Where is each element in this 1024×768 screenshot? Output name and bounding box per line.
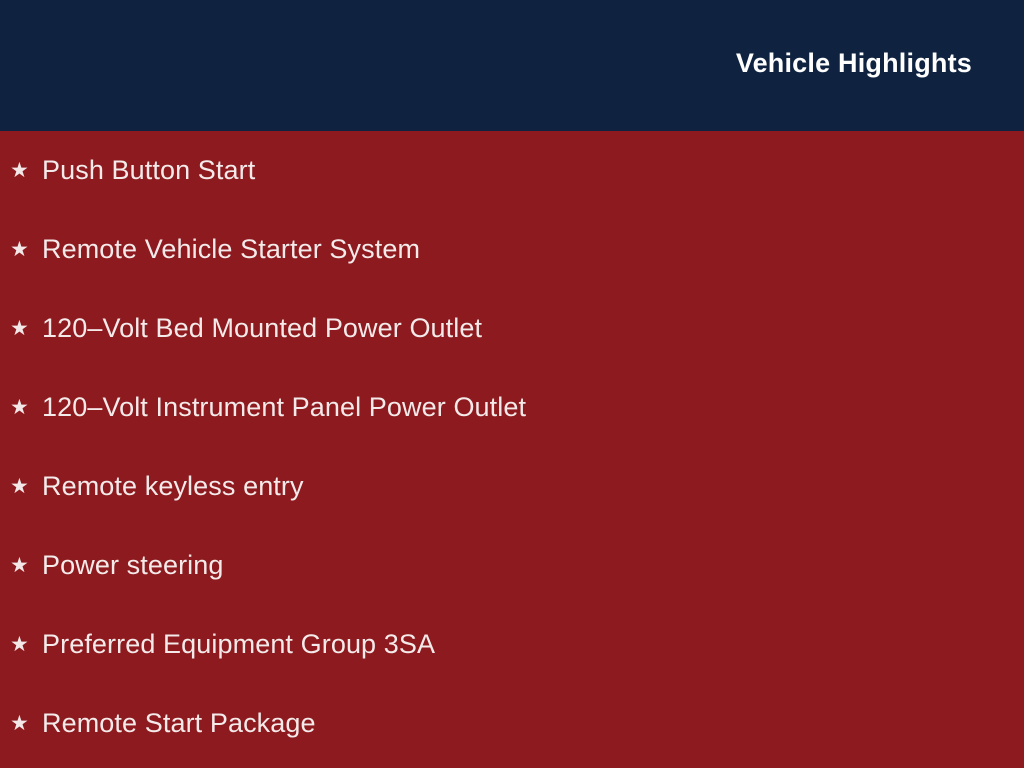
feature-label: Power steering xyxy=(42,548,224,582)
feature-label: 120–Volt Bed Mounted Power Outlet xyxy=(42,311,482,345)
list-item: ★ Preferred Equipment Group 3SA xyxy=(0,624,1024,664)
star-bullet-icon: ★ xyxy=(10,713,42,734)
feature-label: Remote keyless entry xyxy=(42,469,304,503)
star-bullet-icon: ★ xyxy=(10,318,42,339)
star-bullet-icon: ★ xyxy=(10,476,42,497)
star-bullet-icon: ★ xyxy=(10,397,42,418)
feature-label: Push Button Start xyxy=(42,153,255,187)
list-item: ★ 120–Volt Bed Mounted Power Outlet xyxy=(0,308,1024,348)
feature-label: Remote Vehicle Starter System xyxy=(42,232,420,266)
page-title: Vehicle Highlights xyxy=(736,46,972,80)
list-item: ★ Push Button Start xyxy=(0,150,1024,190)
list-item: ★ Remote Start Package xyxy=(0,703,1024,743)
feature-label: 120–Volt Instrument Panel Power Outlet xyxy=(42,390,526,424)
list-item: ★ Power steering xyxy=(0,545,1024,585)
star-bullet-icon: ★ xyxy=(10,634,42,655)
star-bullet-icon: ★ xyxy=(10,160,42,181)
header-band: Vehicle Highlights xyxy=(0,0,1024,131)
list-item: ★ 120–Volt Instrument Panel Power Outlet xyxy=(0,387,1024,427)
star-bullet-icon: ★ xyxy=(10,555,42,576)
feature-label: Remote Start Package xyxy=(42,706,316,740)
star-bullet-icon: ★ xyxy=(10,239,42,260)
list-item: ★ Remote keyless entry xyxy=(0,466,1024,506)
list-item: ★ Remote Vehicle Starter System xyxy=(0,229,1024,269)
vehicle-highlights-list: ★ Push Button Start ★ Remote Vehicle Sta… xyxy=(0,131,1024,768)
vehicle-highlights-slide: Vehicle Highlights ★ Push Button Start ★… xyxy=(0,0,1024,768)
feature-label: Preferred Equipment Group 3SA xyxy=(42,627,435,661)
